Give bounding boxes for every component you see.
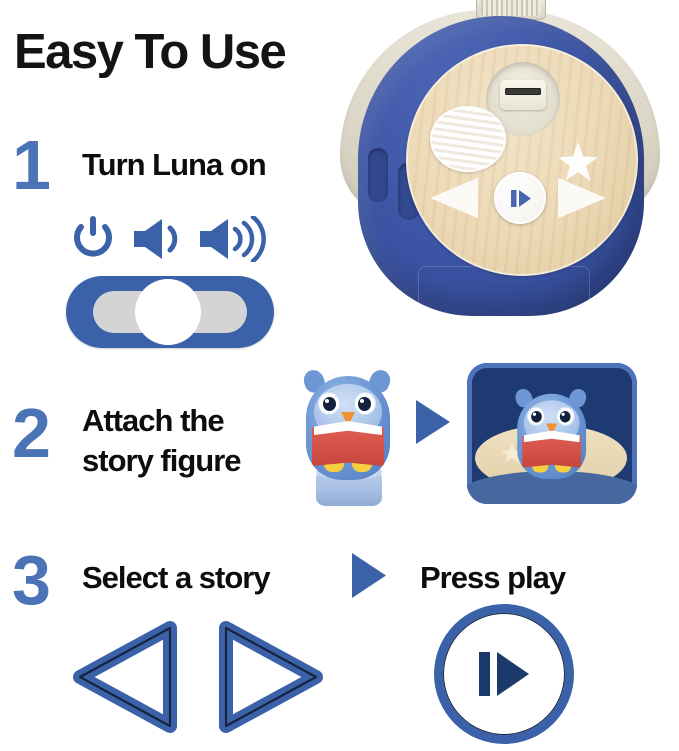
play-pause-icon (477, 646, 535, 702)
toggle-knob[interactable] (135, 279, 201, 345)
play-button[interactable] (494, 172, 546, 224)
vent-slot (368, 148, 388, 202)
infographic-root: Easy To Use (0, 0, 679, 751)
owl-pupil-right (560, 411, 571, 422)
step-3-number: 3 (12, 545, 48, 615)
step-2-number: 2 (12, 398, 48, 468)
previous-button[interactable] (428, 176, 478, 220)
volume-high-icon (198, 216, 274, 262)
step-3-label-2: Press play (420, 561, 565, 596)
step-2-label-line2: story figure (82, 444, 241, 479)
figure-connector-slot (500, 80, 546, 110)
step-2-right-arrow-icon (416, 400, 450, 444)
owl-pupil-left (531, 411, 542, 422)
next-button[interactable] (558, 176, 608, 220)
power-toggle-switch[interactable] (66, 276, 274, 348)
connector-contacts (508, 89, 538, 94)
step-3-label: Select a story (82, 561, 270, 596)
owl-attached-on-device-card (467, 363, 637, 504)
star-button[interactable] (558, 142, 598, 182)
play-pause-icon (494, 172, 546, 224)
device-face-panel (406, 44, 638, 276)
owl-pupil-left (323, 397, 336, 411)
previous-triangle-button[interactable] (58, 614, 188, 740)
step-3-right-arrow-icon (352, 553, 386, 598)
luna-device-image (330, 0, 670, 334)
step-1-icon-row (70, 212, 280, 264)
speaker-grille (430, 106, 506, 172)
play-button-large[interactable] (443, 613, 565, 735)
volume-low-icon (132, 218, 188, 260)
owl-pupil-right (358, 397, 371, 411)
next-triangle-button[interactable] (208, 614, 338, 740)
owl-story-figure (296, 358, 400, 508)
device-body (358, 16, 644, 316)
step-2-label-line1: Attach the (82, 404, 224, 439)
power-icon (70, 214, 116, 262)
step-1-label: Turn Luna on (82, 148, 266, 183)
page-title: Easy To Use (14, 28, 285, 77)
step-1-number: 1 (12, 130, 48, 200)
card-owl-figure (509, 379, 594, 486)
